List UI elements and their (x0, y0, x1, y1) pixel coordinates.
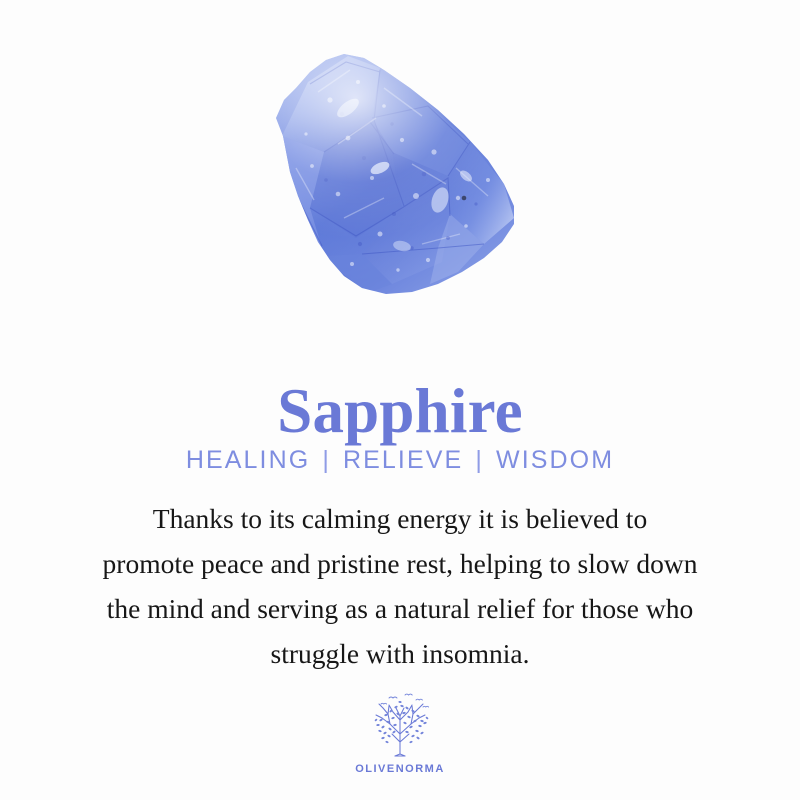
keyword-healing: HEALING (186, 446, 310, 474)
raw-sapphire-crystal-image (252, 48, 548, 302)
description-line: Thanks to its calming energy it is belie… (30, 496, 770, 541)
brand-wordmark: OLIVENORMA (355, 763, 445, 775)
keyword-separator: | (472, 446, 487, 474)
hero-image-area (0, 0, 800, 310)
olive-tree-icon (359, 690, 441, 760)
gemstone-info-card: Sapphire HEALING | RELIEVE | WISDOM Than… (0, 0, 800, 800)
description-line: promote peace and pristine rest, helping… (30, 541, 770, 586)
keyword-wisdom: WISDOM (496, 446, 614, 474)
brand-logo: OLIVENORMA (0, 690, 800, 775)
keyword-relieve: RELIEVE (343, 446, 463, 474)
keyword-line: HEALING | RELIEVE | WISDOM (0, 446, 800, 475)
keyword-separator: | (319, 446, 334, 474)
description-text: Thanks to its calming energy it is belie… (30, 496, 770, 676)
description-line: the mind and serving as a natural relief… (30, 586, 770, 631)
description-line: struggle with insomnia. (30, 631, 770, 676)
page-title: Sapphire (0, 378, 800, 444)
